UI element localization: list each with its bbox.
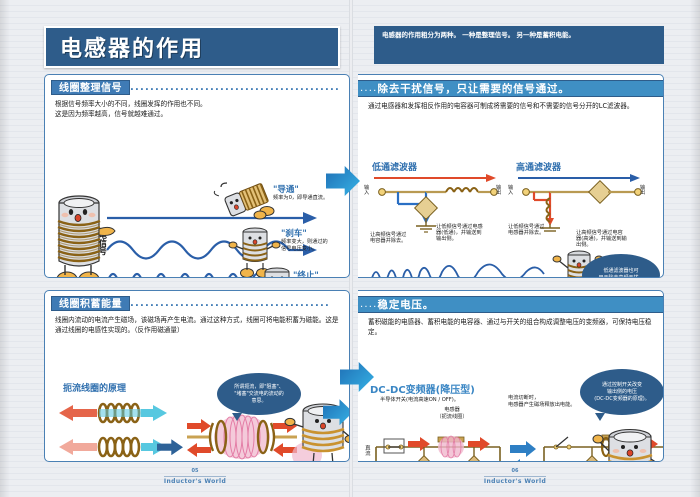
footer-left: 05 Inductor's World bbox=[140, 468, 250, 485]
heading-dots: ........................................… bbox=[130, 80, 340, 95]
choke-opposing-flux bbox=[59, 399, 179, 462]
section-heading-coil-signal: 线圈整理信号..................................… bbox=[51, 80, 343, 95]
footer-brand-left: Inductor's World bbox=[140, 478, 250, 485]
low-pass-out-label: 输出 bbox=[496, 186, 504, 197]
dcdc-diagram: DC-DC变频器(降压型) 半导体开关(电流高速ON / OFF)。 电流切断时… bbox=[358, 337, 663, 462]
high-pass-out-label: 输出 bbox=[640, 186, 648, 197]
state-label-1: "刹车" bbox=[281, 227, 307, 239]
footer-page-number-left: 05 bbox=[140, 468, 250, 475]
section-heading-label: 线圈整理信号 bbox=[51, 80, 130, 95]
high-pass-title: 高通滤波器 bbox=[516, 160, 561, 173]
dcdc-inductor-label: 电感器 （扼流线圈） bbox=[432, 407, 472, 420]
mascot-seated-art bbox=[596, 423, 662, 462]
dcdc-state-toggle-arrows bbox=[510, 441, 536, 462]
state-label-2: "终止" bbox=[293, 269, 319, 278]
section-body-text-voltage: 蓄积磁能的电感器、蓄积电能的电容器、通过与开关的组合构成调整电压的变频器，可保持… bbox=[368, 318, 653, 337]
mascot-inductor-seated bbox=[596, 423, 662, 462]
state-label-0: "导通" bbox=[273, 183, 299, 195]
filter-diagrams: 低通滤波器 输入 输出 让高频信号通过 电容器并除去。 bbox=[358, 112, 663, 278]
footer-rule-left bbox=[164, 476, 226, 477]
choke-callout-bubble: 所谓扼流，即"阻塞"、 "堵塞"交流电的流动的 意思。 bbox=[217, 373, 301, 415]
section-heading-label-voltage: 稳定电压。 bbox=[378, 297, 435, 312]
state-desc-0: 频率为0，即导通直流。 bbox=[273, 195, 350, 201]
mascot-inductor-large bbox=[53, 187, 105, 278]
state-desc-1: 频率变大，则通过的 信号电压变小。 bbox=[281, 239, 350, 252]
footer-page-number-right: 06 bbox=[460, 468, 570, 475]
section-heading-filters: .... 除去干扰信号，只让需要的信号通过。 bbox=[358, 80, 663, 97]
page-shadow-left bbox=[0, 0, 10, 497]
heading-dots-filters: .... bbox=[358, 83, 378, 94]
dcdc-dc-label: 直流 bbox=[364, 445, 370, 455]
section-body-text: 根据信号频率大小的不同，线圈发挥的作用也不同。 这是因为频率越高，信号就越难通过… bbox=[55, 100, 339, 119]
dcdc-switch-note: 半导体开关(电流高速ON / OFF)。 bbox=[380, 397, 490, 403]
panel-coil-signal: 线圈整理信号..................................… bbox=[44, 74, 350, 278]
page-title-banner: 电感器的作用 bbox=[44, 26, 340, 68]
noise-to-clean-waveform bbox=[372, 262, 552, 278]
section-heading-voltage: .... 稳定电压。 bbox=[358, 296, 663, 313]
heading-dots-voltage: .... bbox=[358, 299, 378, 310]
dcdc-callout-bubble: 通过控制开关改变 输出侧的电压 (DC-DC变频器的原理)。 bbox=[580, 369, 664, 415]
section-body-text-filters: 通过电感器和发挥相反作用的电容器可制成将需要的信号和不需要的信号分开的LC滤波器… bbox=[368, 102, 653, 112]
section-body-text-energy: 线圈内流动的电流产生磁场，该磁场再产生电流。通过这种方式，线圈可将电能积蓄为磁能… bbox=[55, 316, 339, 335]
dcdc-title: DC-DC变频器(降压型) bbox=[370, 381, 475, 396]
choke-principle-title: 扼流线圈的原理 bbox=[63, 381, 126, 394]
section-heading-label-energy: 线圈积蓄能量 bbox=[51, 296, 130, 311]
section-heading-coil-energy: 线圈积蓄能量..................................… bbox=[51, 296, 343, 311]
panel-coil-energy: 线圈积蓄能量..................................… bbox=[44, 290, 350, 462]
page-title: 电感器的作用 bbox=[46, 31, 204, 63]
low-pass-in-label: 输入 bbox=[364, 186, 372, 197]
footer-right: 06 Inductor's World bbox=[460, 468, 570, 485]
footer-rule-right bbox=[484, 476, 546, 477]
section-heading-label-filters: 除去干扰信号，只让需要的信号通过。 bbox=[378, 81, 570, 96]
footer-brand-right: Inductor's World bbox=[460, 478, 570, 485]
mascot-inductor-flying bbox=[221, 181, 277, 221]
low-pass-note-right: 让低频信号通过电感 器(低通)，并输送到 输出侧。 bbox=[436, 224, 498, 243]
choke-diagram: 扼流线圈的原理 bbox=[45, 335, 349, 462]
low-pass-note-left: 让高频信号通过 电容器并除去。 bbox=[370, 232, 426, 245]
page-shadow-right bbox=[690, 0, 700, 497]
page-subtitle: 电感器的作用粗分为两种。 一种是整理信号。 另一种是蓄积电能。 bbox=[374, 26, 664, 64]
high-pass-in-label: 输入 bbox=[508, 186, 516, 197]
heading-dots-energy: ........................................ bbox=[130, 296, 330, 311]
dcdc-circuit-on bbox=[368, 421, 510, 462]
mascot-flying-art bbox=[221, 181, 277, 221]
mascot-inductor-large-art bbox=[53, 187, 105, 278]
waveform-dc bbox=[107, 207, 317, 229]
panel-filters: .... 除去干扰信号，只让需要的信号通过。 通过电感器和发挥相反作用的电容器可… bbox=[358, 74, 664, 278]
signal-diagram: 电信号 bbox=[45, 119, 349, 278]
high-pass-note-left: 让低频信号通过 电感器并除去。 bbox=[508, 224, 564, 237]
panel-voltage-stabilize: .... 稳定电压。 蓄积磁能的电感器、蓄积电能的电容器、通过与开关的组合构成调… bbox=[358, 290, 664, 462]
low-pass-title: 低通滤波器 bbox=[372, 160, 417, 173]
